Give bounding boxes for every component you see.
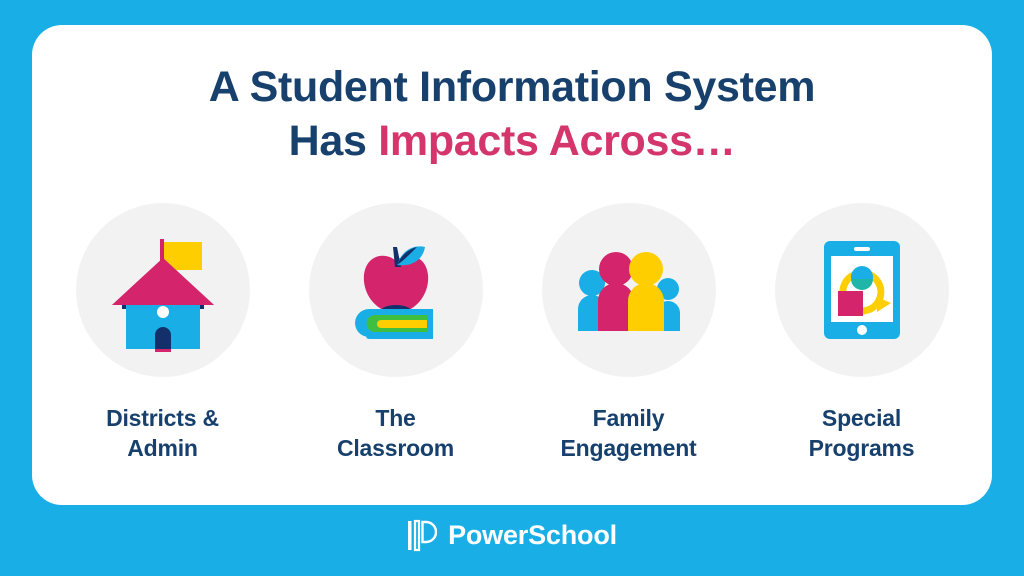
powerschool-logo-mark (407, 519, 437, 552)
impact-column-the-classroom: The Classroom (279, 203, 512, 464)
impact-label-family-engagement: Family Engagement (560, 403, 696, 464)
label-line-2: Admin (127, 435, 198, 461)
impact-column-districts-admin: Districts & Admin (46, 203, 279, 464)
tablet-refresh-icon (797, 225, 927, 355)
content-card: A Student Information System Has Impacts… (32, 25, 992, 505)
label-line-2: Classroom (337, 435, 454, 461)
icon-circle-the-classroom (309, 203, 483, 377)
icon-circle-districts-admin (76, 203, 250, 377)
title-line-2-accent: Impacts Across… (378, 117, 735, 165)
label-line-2: Engagement (560, 435, 696, 461)
school-building-icon (98, 225, 228, 355)
title-line-2-prefix: Has (289, 117, 379, 165)
impact-label-districts-admin: Districts & Admin (106, 403, 219, 464)
impact-label-special-programs: Special Programs (809, 403, 915, 464)
icon-circle-special-programs (775, 203, 949, 377)
family-group-icon (564, 225, 694, 355)
label-line-1: Special (822, 405, 901, 431)
impact-label-the-classroom: The Classroom (337, 403, 454, 464)
slide-canvas: A Student Information System Has Impacts… (0, 0, 1024, 576)
apple-on-books-icon (331, 225, 461, 355)
page-title: A Student Information System Has Impacts… (32, 60, 992, 168)
label-line-1: Family (593, 405, 665, 431)
icon-circle-family-engagement (542, 203, 716, 377)
label-line-1: The (375, 405, 415, 431)
label-line-1: Districts & (106, 405, 219, 431)
brand-name: PowerSchool (448, 522, 617, 549)
brand-footer: PowerSchool (0, 519, 1024, 552)
label-line-2: Programs (809, 435, 915, 461)
title-line-1: A Student Information System (209, 63, 815, 111)
impact-column-special-programs: Special Programs (745, 203, 978, 464)
impact-columns: Districts & Admin (46, 203, 978, 483)
impact-column-family-engagement: Family Engagement (512, 203, 745, 464)
